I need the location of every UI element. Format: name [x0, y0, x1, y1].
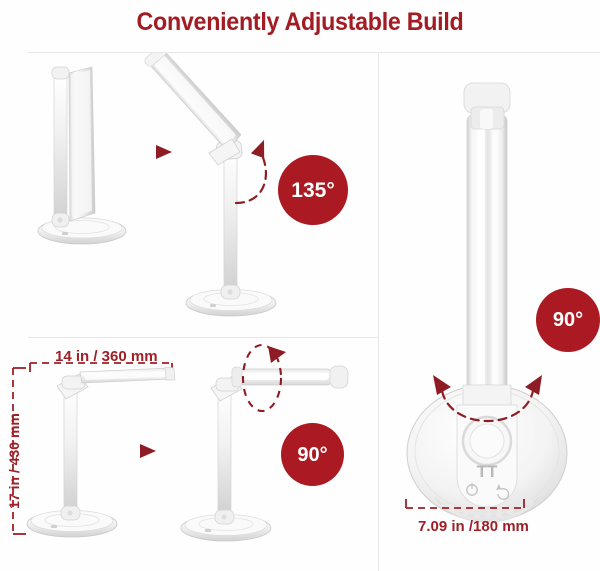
angle-badge-90-head: 90°: [281, 423, 344, 486]
dimension-label-base: 7.09 in /180 mm: [418, 518, 529, 535]
panel-base-swivel: TT: [379, 53, 600, 571]
dimension-label-height: 17 in / 430 mm: [6, 413, 22, 509]
page-title: Conveniently Adjustable Build: [21, 8, 579, 37]
lamp-folded: [38, 67, 126, 244]
panel-folding-hinge: 135°: [0, 53, 378, 337]
dashed-arrow-right-icon-2: [97, 444, 156, 458]
infographic-root: Conveniently Adjustable Build: [0, 0, 600, 571]
lamp-base-topdown: TT: [407, 385, 567, 522]
dimension-label-width: 14 in / 360 mm: [55, 348, 158, 365]
angle-badge-90-base: 90°: [536, 288, 600, 352]
lamp-unfolded: [143, 53, 276, 316]
dashed-arrow-right-icon: [113, 145, 172, 159]
angle-badge-135: 135°: [278, 155, 348, 225]
lamp-arm-topdown: [464, 83, 510, 390]
panel-dimensions: 14 in / 360 mm 17 in / 430 mm 90°: [0, 338, 378, 571]
taotronics-tt-logo: TT: [477, 462, 498, 481]
